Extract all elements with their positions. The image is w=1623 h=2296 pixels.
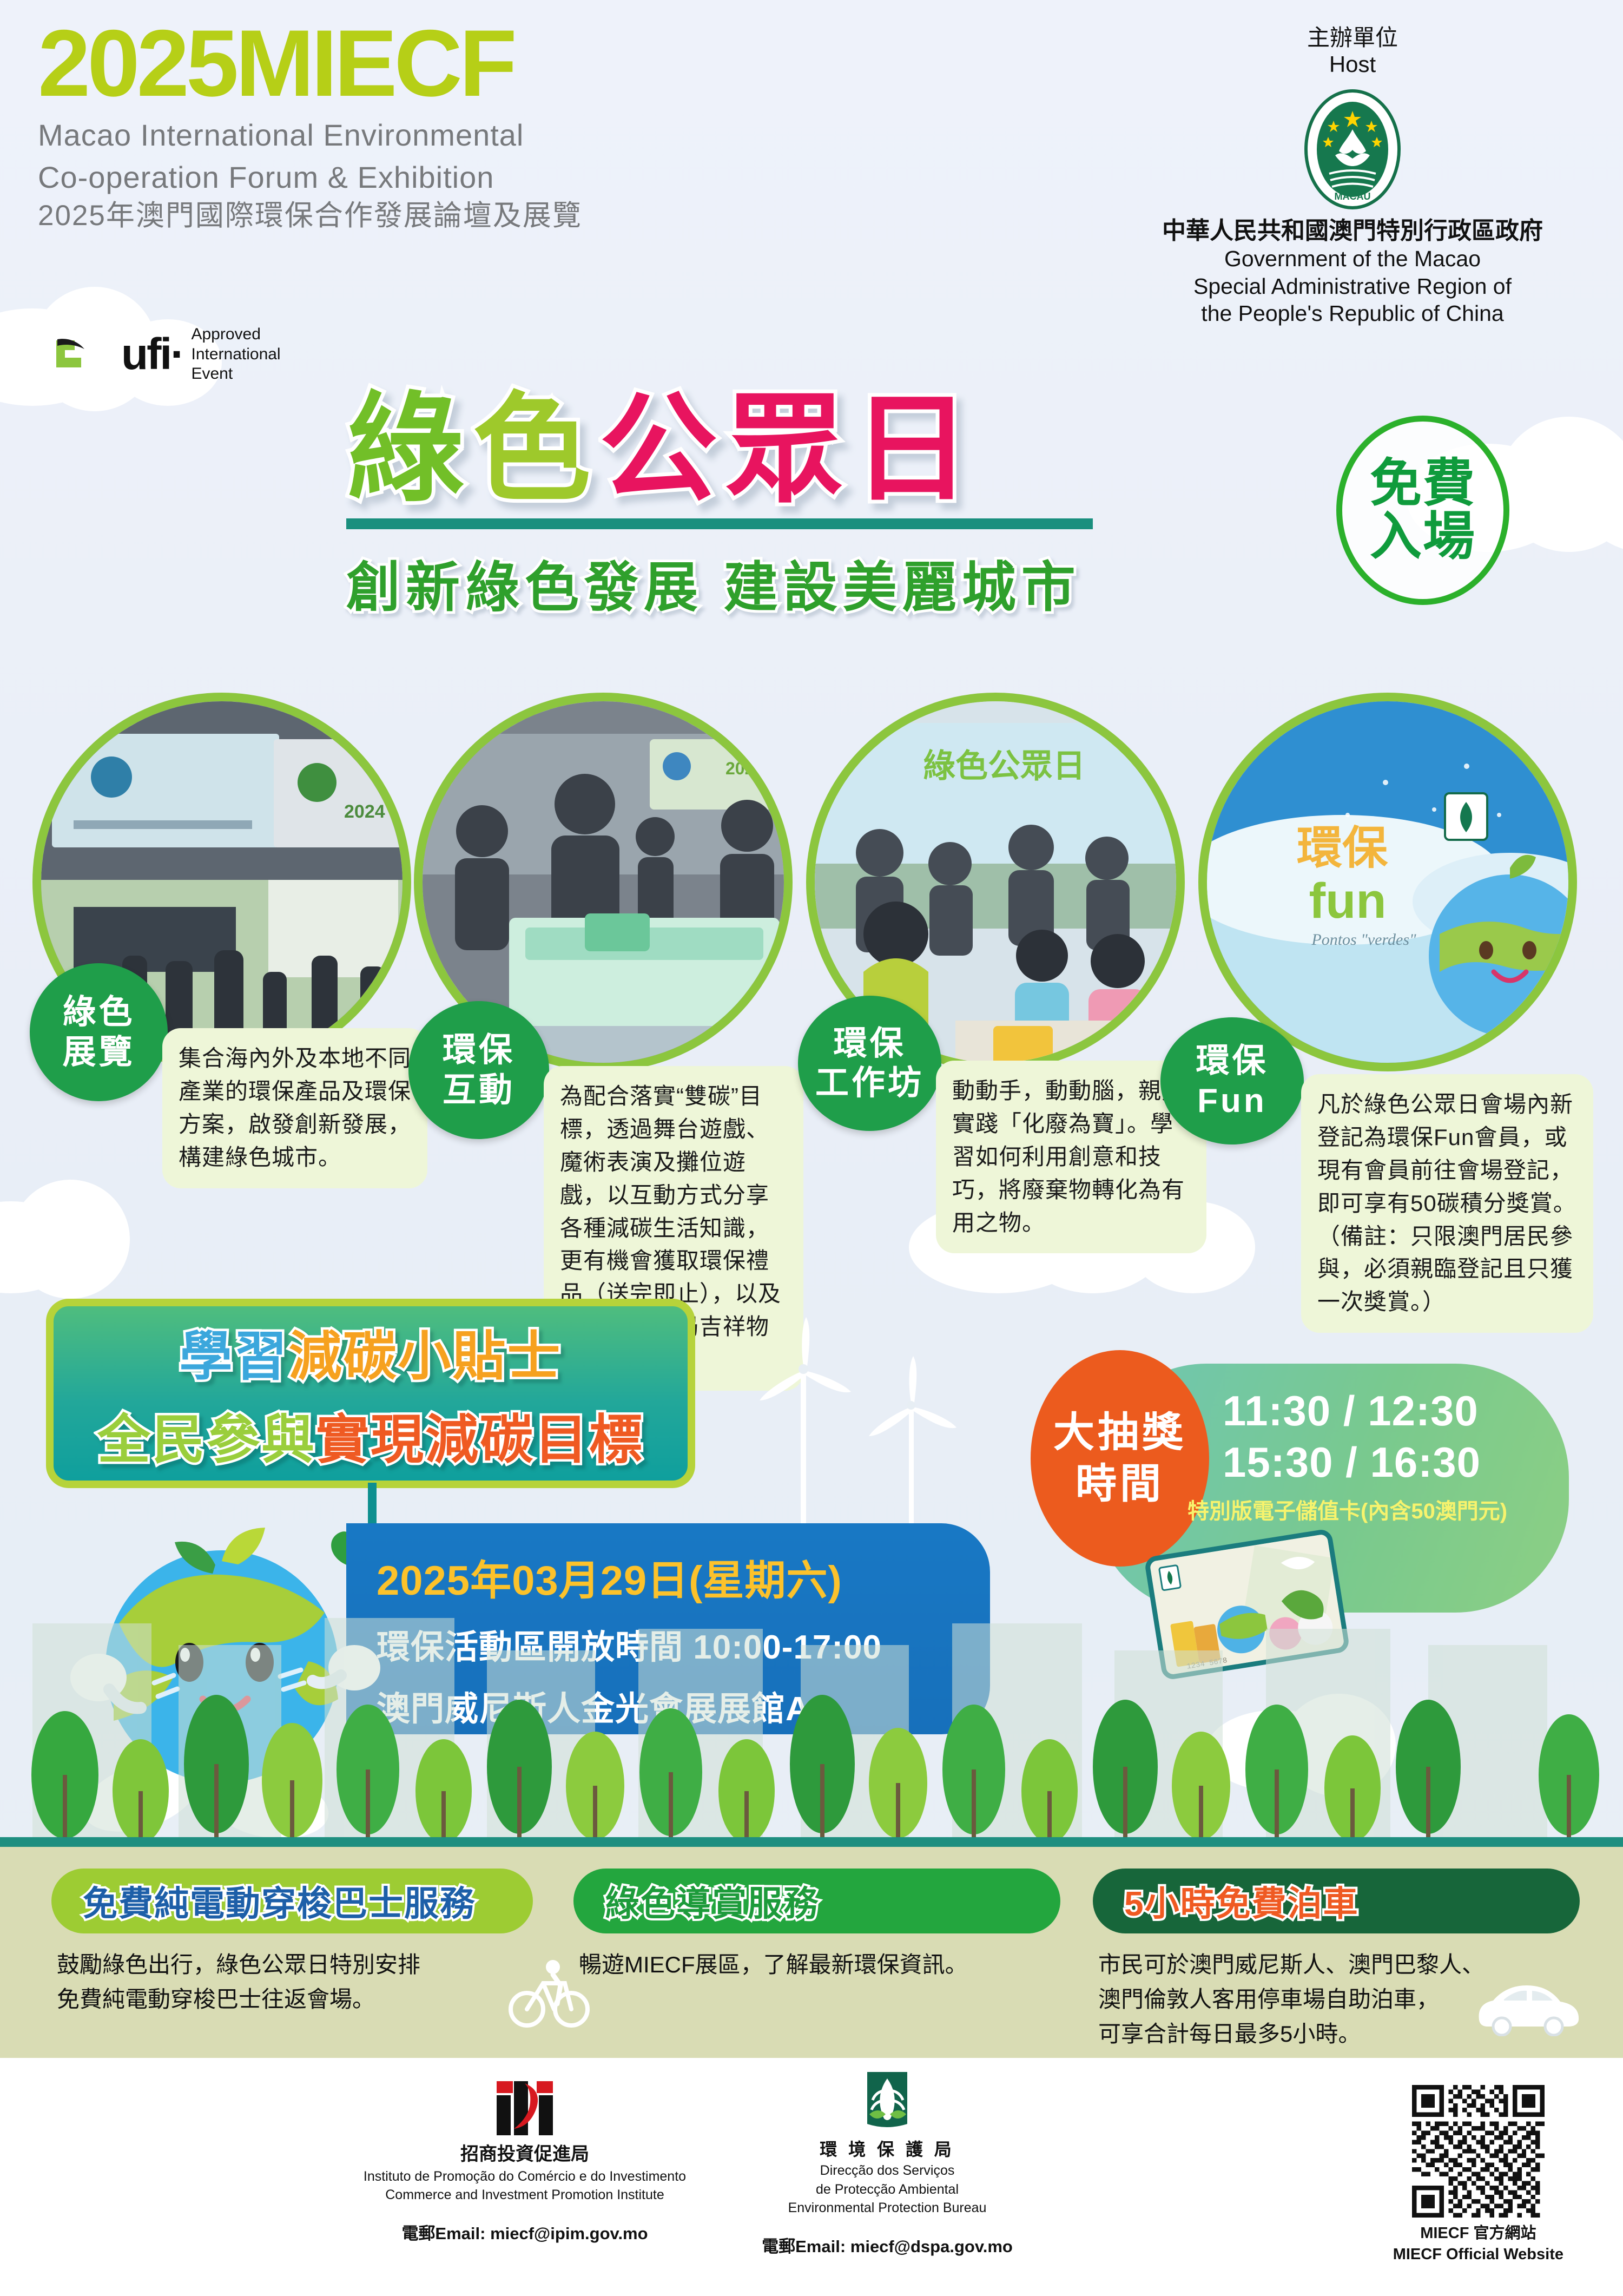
title-char-3: 公 <box>599 390 726 510</box>
org-ipim: 招商投資促進局 Instituto de Promoção do Comérci… <box>325 2077 725 2244</box>
service-shuttle-bus-title: 免費純電動穿梭巴士服務 <box>83 1876 476 1926</box>
lucky-draw-times-line2: 15:30 / 16:30 <box>1223 1437 1569 1488</box>
org-dspa: 環 境 保 護 局 Direcção dos Serviços de Prote… <box>720 2069 1055 2257</box>
feature-badge-line4-2: Fun <box>1197 1082 1267 1120</box>
ufi-approved-event-logo: ufi· Approved International Event <box>54 325 281 384</box>
title-char-2: 色 <box>473 390 599 510</box>
carbon-reduction-sign: 學習減碳小貼士 全民參與實現減碳目標 <box>46 1299 695 1488</box>
main-title-chars: 綠色公眾日 <box>346 390 1298 510</box>
ipim-email[interactable]: 電郵Email: miecf@ipim.gov.mo <box>325 2220 725 2244</box>
feature-badge-green-fun: 環保Fun <box>1160 1017 1304 1144</box>
dspa-name-pt2: de Protecção Ambiental <box>720 2180 1055 2199</box>
host-name-cn: 中華人民共和國澳門特別行政區政府 <box>1147 217 1558 246</box>
service-shuttle-bus-text-line2: 免費純電動穿梭巴士往返會場。 <box>57 1982 533 2017</box>
qr-code-icon[interactable] <box>1412 2085 1545 2218</box>
host-label-en: Host <box>1147 51 1558 78</box>
feature-green-fun: 環保 fun Pontos "verdes" 環保Fun 凡於綠色公眾日會場內新… <box>1198 693 1599 1071</box>
ufi-approved-label: Approved International Event <box>191 325 280 384</box>
feature-badge-line3-2: 工作坊 <box>815 1064 924 1102</box>
svg-text:2024: 2024 <box>344 801 385 822</box>
service-green-tour-pill: 綠色導賞服務 <box>573 1869 1060 1933</box>
lucky-draw-label: 大抽獎 時間 <box>1031 1350 1209 1567</box>
sign-line-2: 全民參與實現減碳目標 <box>97 1397 644 1473</box>
host-name-en-line3: the People's Republic of China <box>1147 300 1558 327</box>
title-slogan: 創新綠色發展 建設美麗城市 <box>346 543 1298 622</box>
brand-subtitle-cn: 2025年澳門國際環保合作發展論壇及展覽 <box>38 199 849 233</box>
feature-green-interaction: 2024 環保互動 為配合落實“雙碳”目標，透過舞台遊戲、 <box>414 693 814 1071</box>
service-shuttle-bus-pill: 免費純電動穿梭巴士服務 <box>51 1869 533 1933</box>
event-date: 2025年03月29日(星期六) <box>377 1547 990 1607</box>
dspa-name-en: Environmental Protection Bureau <box>720 2199 1055 2218</box>
lucky-draw-label-line1: 大抽獎 <box>1053 1407 1186 1458</box>
lucky-draw-times-line1: 11:30 / 12:30 <box>1223 1385 1569 1437</box>
macao-sar-emblem-icon: MACAU <box>1301 87 1404 212</box>
brand-subtitle-en-line1: Macao International Environmental <box>38 117 849 153</box>
svg-text:環保: 環保 <box>1297 821 1388 874</box>
svg-text:2024: 2024 <box>725 759 764 778</box>
feature-badge-line1-2: 展覽 <box>62 1034 135 1071</box>
free-admission-line1: 免費 <box>1370 457 1476 510</box>
feature-badge-line2-1: 環保 <box>443 1031 515 1069</box>
car-icon <box>1472 1977 1585 2039</box>
service-green-tour: 綠色導賞服務 暢遊MIECF展區，了解最新環保資訊。 <box>573 1869 1060 1982</box>
host-block: 主辦單位 Host <box>1147 25 1558 327</box>
ufi-approved-line1: Approved <box>191 325 260 343</box>
feature-desc-3: 動動手，動動腦，親身實踐「化廢為寶」。學習如何利用創意和技巧，將廢棄物轉化為有用… <box>952 1075 1190 1239</box>
services-section: 免費純電動穿梭巴士服務 鼓勵綠色出行，綠色公眾日特別安排 免費純電動穿梭巴士往返… <box>0 1847 1623 2058</box>
feature-desc-4: 凡於綠色公眾日會場內新登記為環保Fun會員，或現有會員前往會場登記，即可享有50… <box>1317 1088 1577 1319</box>
tree-landscape <box>0 1613 1623 1845</box>
feature-badge-green-workshop: 環保工作坊 <box>798 996 941 1131</box>
feature-badge-line3-1: 環保 <box>833 1025 906 1062</box>
title-char-5: 日 <box>853 390 979 510</box>
feature-badge-green-exhibition: 綠色展覽 <box>30 963 168 1101</box>
ipim-name-pt: Instituto de Promoção do Comércio e do I… <box>325 2167 725 2186</box>
lucky-draw-times: 11:30 / 12:30 15:30 / 16:30 <box>1223 1385 1569 1488</box>
feature-green-exhibition: 2024 綠色展覽 集合海內外及本地不同產業的環保產品及環保方案，啟發創新發展，… <box>32 693 433 1071</box>
ipim-name-en: Commerce and Investment Promotion Instit… <box>325 2186 725 2205</box>
qr-label-cn: MIECF 官方網站 <box>1393 2223 1563 2244</box>
service-shuttle-bus-text-line1: 鼓勵綠色出行，綠色公眾日特別安排 <box>57 1948 533 1982</box>
sign-line-2-part2: 實現減碳目標 <box>316 1410 644 1469</box>
ufi-wordmark: ufi· <box>121 332 183 377</box>
service-shuttle-bus-text: 鼓勵綠色出行，綠色公眾日特別安排 免費純電動穿梭巴士往返會場。 <box>51 1948 533 2017</box>
service-green-tour-text: 暢遊MIECF展區，了解最新環保資訊。 <box>573 1948 1060 1982</box>
title-char-1: 綠 <box>346 390 473 510</box>
service-free-parking-title: 5小時免費泊車 <box>1124 1876 1359 1926</box>
free-admission-badge: 免費 入場 <box>1336 416 1509 605</box>
feature-text-green-exhibition: 集合海內外及本地不同產業的環保產品及環保方案，啟發創新發展，構建綠色城市。 <box>162 1028 427 1188</box>
feature-photo-green-fun: 環保 fun Pontos "verdes" <box>1198 693 1577 1071</box>
svg-text:綠色公眾日: 綠色公眾日 <box>923 747 1085 785</box>
brand-subtitle-en-line2: Co-operation Forum & Exhibition <box>38 160 849 195</box>
sign-line-2-part1: 全民參與 <box>97 1410 316 1469</box>
sign-line-1-part2: 減碳小貼士 <box>289 1326 562 1386</box>
feature-badge-green-interaction: 環保互動 <box>408 1001 549 1139</box>
feature-text-green-fun: 凡於綠色公眾日會場內新登記為環保Fun會員，或現有會員前往會場登記，即可享有50… <box>1301 1074 1593 1333</box>
host-name-en-line1: Government of the Macao <box>1147 245 1558 272</box>
poster-root: 2025MIECF Macao International Environmen… <box>0 0 1623 2296</box>
service-green-tour-title: 綠色導賞服務 <box>605 1876 819 1926</box>
title-char-4: 眾 <box>726 390 853 510</box>
main-title-block: 綠色公眾日 創新綠色發展 建設美麗城市 <box>346 390 1298 622</box>
title-divider <box>346 518 1093 529</box>
dspa-name-cn: 環 境 保 護 局 <box>720 2138 1055 2161</box>
feature-badge-line1-1: 綠色 <box>62 994 135 1031</box>
service-green-tour-text-line1: 暢遊MIECF展區，了解最新環保資訊。 <box>579 1948 1060 1982</box>
svg-text:Pontos "verdes": Pontos "verdes" <box>1311 931 1416 949</box>
ground-strip <box>0 1837 1623 1847</box>
ufi-approved-line2: International <box>191 345 280 363</box>
features-section: 2024 綠色展覽 集合海內外及本地不同產業的環保產品及環保方案，啟發創新發展，… <box>0 687 1623 1282</box>
feature-green-workshop: 綠色公眾日 環保工作坊 <box>806 693 1206 1071</box>
free-admission-line2: 入場 <box>1370 510 1476 563</box>
host-name-en-line2: Special Administrative Region of <box>1147 273 1558 300</box>
official-website-qr-block[interactable]: MIECF 官方網站 MIECF Official Website <box>1393 2085 1563 2265</box>
host-label-cn: 主辦單位 <box>1147 25 1558 51</box>
ufi-leaf-icon <box>54 335 114 374</box>
service-free-parking-pill: 5小時免費泊車 <box>1093 1869 1580 1933</box>
footer: 2025MIECF 官方承辦單位 2025MIECF Host Co-ordin… <box>0 2058 1623 2296</box>
sign-line-1: 學習減碳小貼士 <box>179 1313 562 1390</box>
dspa-name-pt1: Direcção dos Serviços <box>720 2161 1055 2180</box>
feature-badge-line4-1: 環保 <box>1196 1042 1268 1080</box>
ipim-logo-icon <box>325 2077 725 2139</box>
feature-badge-line2-2: 互動 <box>443 1071 515 1109</box>
sign-line-1-part1: 學習 <box>179 1326 288 1386</box>
brand-title: 2025MIECF <box>38 16 849 111</box>
feature-desc-1: 集合海內外及本地不同產業的環保產品及環保方案，啟發創新發展，構建綠色城市。 <box>179 1042 411 1174</box>
ufi-approved-line3: Event <box>191 365 233 383</box>
service-shuttle-bus: 免費純電動穿梭巴士服務 鼓勵綠色出行，綠色公眾日特別安排 免費純電動穿梭巴士往返… <box>51 1869 533 2017</box>
lucky-draw-prize-note: 特別版電子儲值卡(內含50澳門元) <box>1187 1494 1599 1525</box>
lucky-draw-label-line2: 時間 <box>1076 1458 1164 1510</box>
qr-label-en: MIECF Official Website <box>1393 2244 1563 2265</box>
dspa-logo-icon <box>720 2069 1055 2138</box>
header: 2025MIECF Macao International Environmen… <box>0 0 1623 379</box>
svg-text:fun: fun <box>1309 873 1386 929</box>
ipim-name-cn: 招商投資促進局 <box>325 2142 725 2167</box>
dspa-email[interactable]: 電郵Email: miecf@dspa.gov.mo <box>720 2233 1055 2257</box>
svg-text:MACAU: MACAU <box>1335 191 1371 202</box>
brand-block: 2025MIECF Macao International Environmen… <box>38 16 849 233</box>
